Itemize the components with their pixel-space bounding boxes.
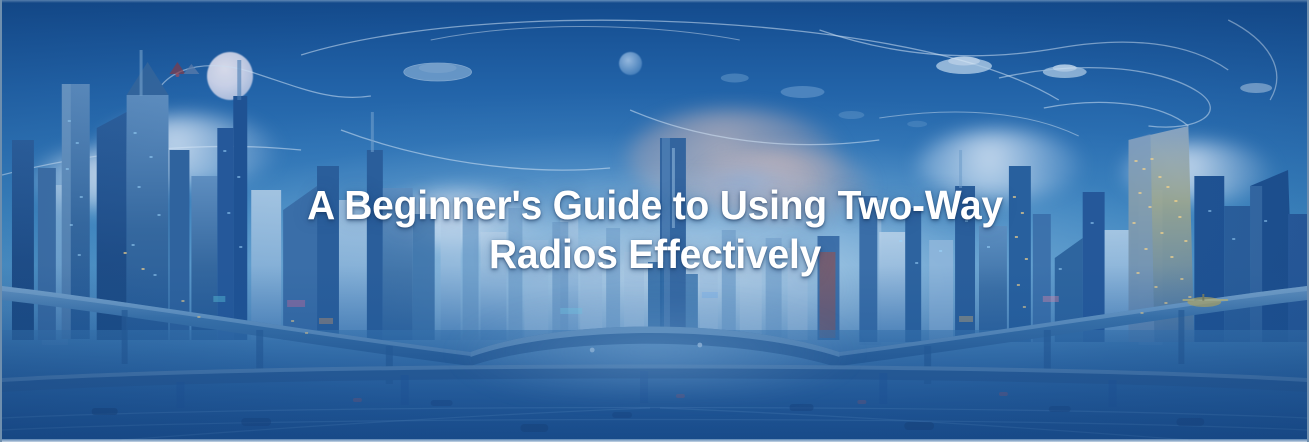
hero-banner: A Beginner's Guide to Using Two-Way Radi… — [0, 0, 1309, 442]
page-title: A Beginner's Guide to Using Two-Way Radi… — [275, 181, 1035, 279]
hero-title-container: A Beginner's Guide to Using Two-Way Radi… — [2, 0, 1307, 442]
